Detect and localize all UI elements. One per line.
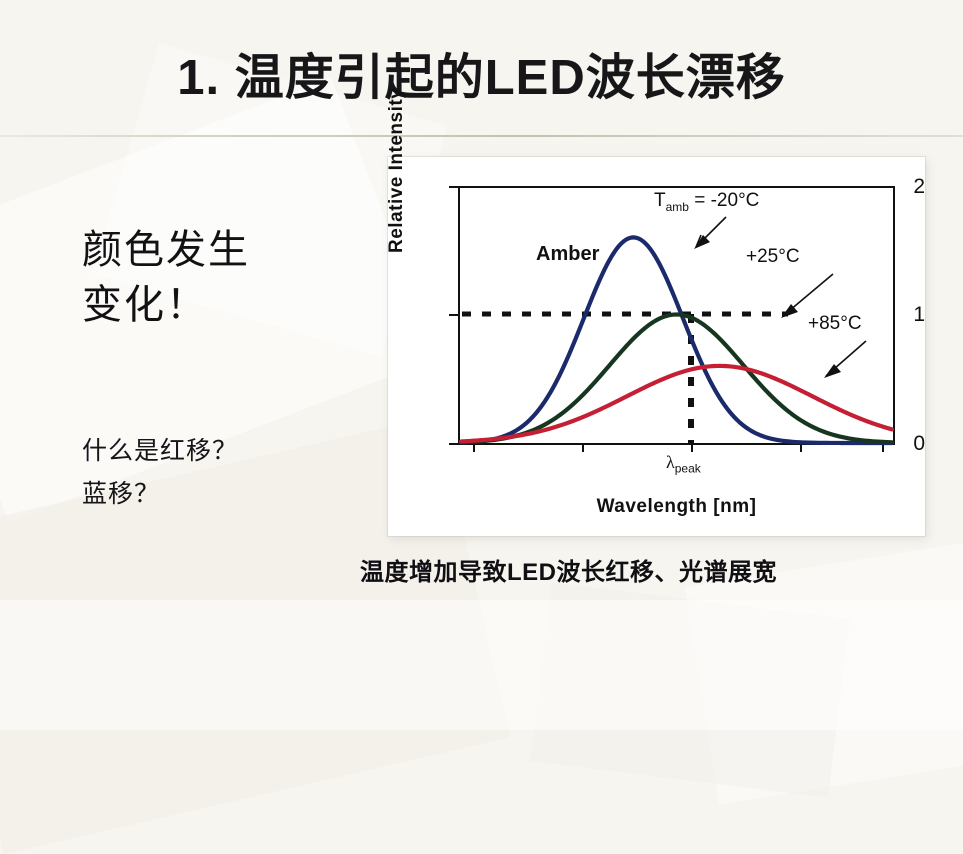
title-divider: [0, 135, 963, 137]
plot-frame: λpeak Amber Tamb = -20°C +25°C +85°C: [458, 186, 895, 445]
title-band: 1. 温度引起的LED波长漂移: [0, 0, 963, 136]
annotation-arrows: [694, 217, 866, 378]
figure-panel: Relative Intensity 2 1 0: [388, 157, 925, 536]
lambda-peak-label: λpeak: [666, 452, 701, 476]
question-line-1: 什么是红移？: [82, 430, 238, 473]
tamb-subscript: amb: [666, 200, 689, 214]
y-tick-1: [449, 314, 458, 316]
y-tick-0: [449, 443, 458, 445]
amber-material-label: Amber: [536, 243, 599, 266]
room-series-label: +25°C: [746, 246, 800, 268]
curve-t-amb-20-c: [461, 237, 892, 443]
curve--85-c: [461, 366, 892, 442]
x-axis-title: Wavelength [nm]: [458, 496, 895, 518]
lambda-peak-symbol: λ: [666, 452, 675, 472]
tamb-value: = -20°C: [689, 190, 759, 211]
lead-statement: 颜色发生 变化！: [82, 222, 250, 332]
spectrum-chart: Relative Intensity 2 1 0: [388, 157, 925, 536]
lead-statement-line-1: 颜色发生: [82, 222, 250, 277]
question-block: 什么是红移？ 蓝移？: [82, 430, 238, 516]
lead-statement-line-2: 变化！: [82, 277, 250, 332]
question-line-2: 蓝移？: [82, 473, 238, 516]
y-tick-2: [449, 186, 458, 188]
y-axis-title: Relative Intensity: [386, 88, 408, 253]
page-title: 1. 温度引起的LED波长漂移: [0, 38, 963, 109]
tamb-symbol: T: [654, 190, 666, 211]
figure-caption: 温度增加导致LED波长红移、光谱展宽: [360, 552, 920, 587]
cold-series-label: Tamb = -20°C: [654, 190, 759, 214]
hot-series-label: +85°C: [808, 313, 862, 335]
lambda-peak-subscript: peak: [675, 462, 701, 476]
